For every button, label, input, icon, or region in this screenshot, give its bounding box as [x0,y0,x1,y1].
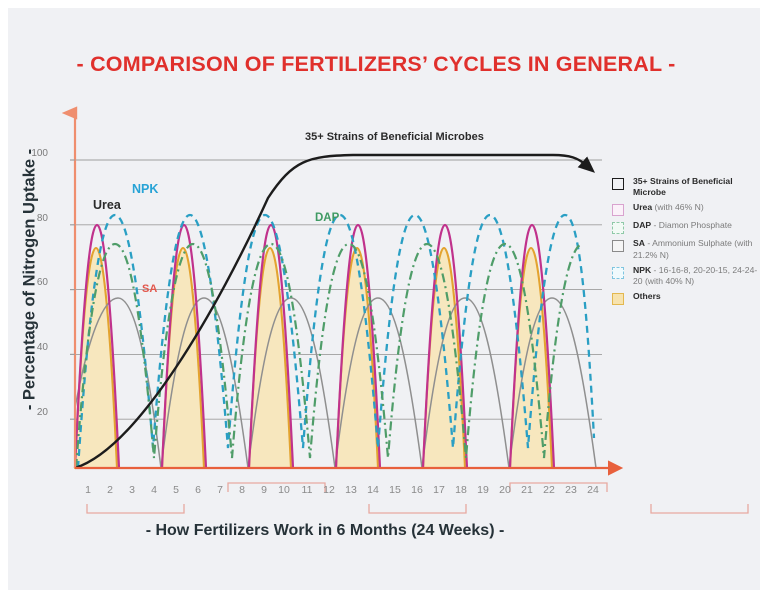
legend-swatch-urea-icon [612,204,624,216]
legend-swatch-dap-icon [612,222,624,234]
x-tick-15: 15 [387,484,403,496]
bracket-1-4 [87,504,184,513]
x-tick-20: 20 [497,484,513,496]
legend-item-microbe: 35+ Strains of Beneficial Microbe [612,176,762,198]
x-tick-21: 21 [519,484,535,496]
chart-legend: 35+ Strains of Beneficial Microbe Urea (… [612,176,762,309]
legend-label-urea: Urea (with 46% N) [633,202,704,213]
legend-item-npk: NPK - 16-16-8, 20-20-15, 24-24-20 (with … [612,265,762,287]
x-tick-11: 11 [299,484,315,496]
x-tick-14: 14 [365,484,381,496]
x-tick-24: 24 [585,484,601,496]
x-tick-23: 23 [563,484,579,496]
x-tick-2: 2 [102,484,118,496]
legend-label-sa: SA - Ammonium Sulphate (with 21.2% N) [633,238,762,260]
legend-item-dap: DAP - Diamon Phosphate [612,220,762,234]
annotation-npk: NPK [132,182,158,196]
x-tick-17: 17 [431,484,447,496]
x-tick-18: 18 [453,484,469,496]
y-tick-20: 20 [22,407,48,418]
chart-page: - COMPARISON OF FERTILIZERS’ CYCLES IN G… [0,0,768,598]
x-tick-8: 8 [234,484,250,496]
y-tick-40: 40 [22,342,48,353]
y-tick-80: 80 [22,213,48,224]
bracket-17-20 [651,504,748,513]
bracket-9-12 [369,504,466,513]
annotation-microbes: 35+ Strains of Beneficial Microbes [305,131,484,143]
x-tick-4: 4 [146,484,162,496]
annotation-urea: Urea [93,198,121,212]
legend-item-others: Others [612,291,762,305]
x-tick-3: 3 [124,484,140,496]
x-tick-22: 22 [541,484,557,496]
annotation-dap: DAP [315,212,339,224]
legend-swatch-sa-icon [612,240,624,252]
x-tick-9: 9 [256,484,272,496]
legend-label-npk: NPK - 16-16-8, 20-20-15, 24-24-20 (with … [633,265,762,287]
legend-label-dap: DAP - Diamon Phosphate [633,220,732,231]
legend-swatch-others-icon [612,293,624,305]
legend-label-others: Others [633,291,661,302]
legend-item-sa: SA - Ammonium Sulphate (with 21.2% N) [612,238,762,260]
x-tick-13: 13 [343,484,359,496]
annotation-sa: SA [142,283,157,295]
y-tick-100: 100 [18,148,48,159]
y-tick-60: 60 [22,277,48,288]
x-tick-1: 1 [80,484,96,496]
x-tick-16: 16 [409,484,425,496]
legend-label-microbe: 35+ Strains of Beneficial Microbe [633,176,762,198]
x-tick-19: 19 [475,484,491,496]
x-tick-6: 6 [190,484,206,496]
legend-item-urea: Urea (with 46% N) [612,202,762,216]
series-others [75,248,552,468]
legend-swatch-npk-icon [612,267,624,279]
x-tick-12: 12 [321,484,337,496]
x-tick-10: 10 [276,484,292,496]
x-tick-7: 7 [212,484,228,496]
legend-swatch-microbe-icon [612,178,624,190]
x-tick-5: 5 [168,484,184,496]
